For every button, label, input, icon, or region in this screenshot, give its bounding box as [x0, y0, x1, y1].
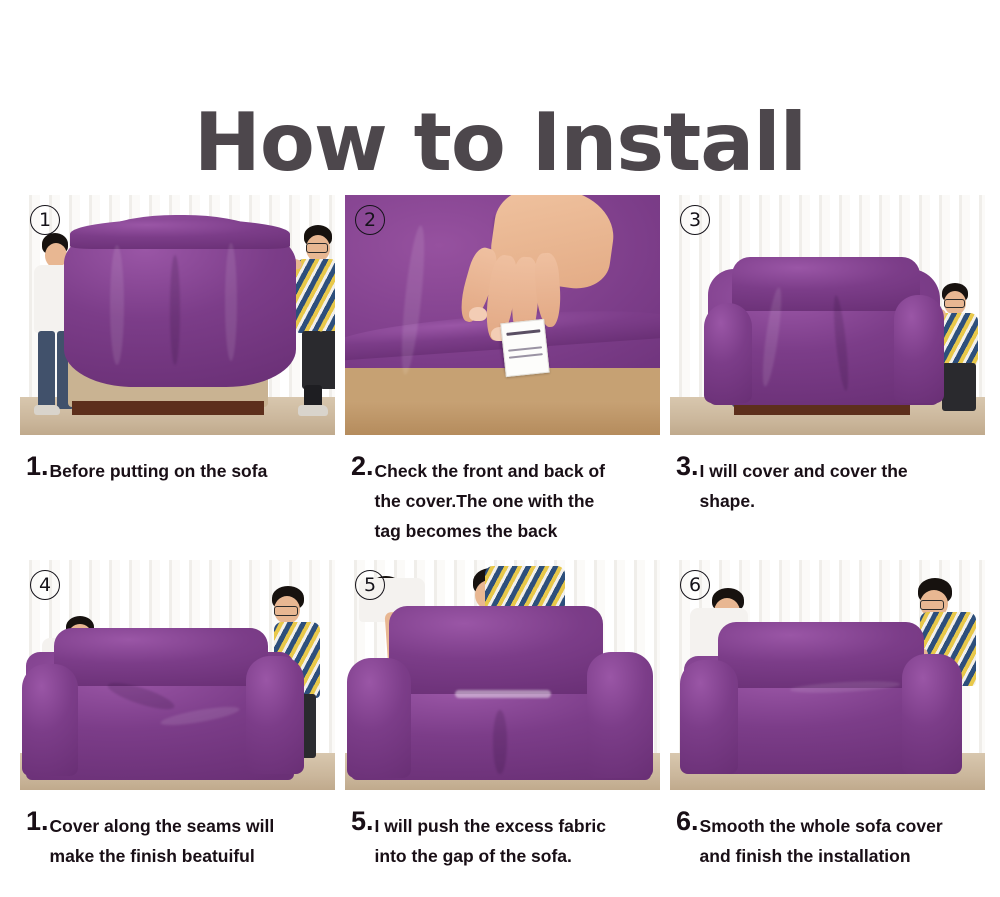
sofa-cover-back [718, 622, 924, 688]
sofa-legs [72, 401, 264, 415]
glasses-icon [920, 600, 944, 610]
steps-row-top: 1 1. Before putting on the sofa [20, 195, 985, 560]
step-caption-1: 1. Before putting on the sofa [20, 453, 335, 486]
sofa-cover-back [732, 257, 920, 311]
step-card-6: 6 6. Smooth the whole sofa cover and fin… [670, 560, 985, 871]
sofa-edge [345, 368, 660, 402]
step-photo-5: 5 [345, 560, 660, 790]
install-steps-grid: 1 1. Before putting on the sofa [20, 195, 985, 890]
fingernail [469, 307, 487, 321]
step-badge-4: 4 [30, 570, 60, 600]
caption-number: 1. [26, 808, 50, 835]
step-photo-4: 4 [20, 560, 335, 790]
sofa-cover-arm [22, 664, 78, 776]
photo-scene-3 [670, 195, 985, 435]
sofa-cover-arm [704, 303, 752, 403]
tag-text-line [509, 353, 543, 358]
caption-text: I will cover and cover the shape. [700, 453, 908, 516]
photo-scene-4 [20, 560, 335, 790]
caption-number: 5. [351, 808, 375, 835]
steps-row-bottom: 4 1. Cover along the seams will make the… [20, 560, 985, 890]
shoe [298, 405, 328, 416]
step-photo-6: 6 [670, 560, 985, 790]
torso [938, 313, 978, 365]
step-caption-6: 6. Smooth the whole sofa cover and finis… [670, 808, 985, 871]
sofa-cover-arm [902, 654, 962, 774]
photo-scene-5 [345, 560, 660, 790]
step-card-1: 1 1. Before putting on the sofa [20, 195, 335, 486]
step-caption-4: 1. Cover along the seams will make the f… [20, 808, 335, 871]
fabric-fold [493, 710, 507, 774]
fabric-fold [225, 243, 237, 361]
sofa-cover-back [54, 628, 268, 686]
sofa-gap-seam [455, 690, 551, 698]
sofa-cover-arm [680, 660, 738, 774]
glasses-icon [306, 243, 328, 253]
glasses-icon [944, 299, 965, 308]
caption-text: Before putting on the sofa [50, 453, 268, 486]
tag-text-line [506, 329, 540, 336]
leg [942, 363, 976, 411]
caption-text: Check the front and back of the cover.Th… [375, 453, 605, 546]
step-photo-2: 2 [345, 195, 660, 435]
step-badge-3: 3 [680, 205, 710, 235]
caption-number: 3. [676, 453, 700, 480]
step-badge-1: 1 [30, 205, 60, 235]
torso [296, 259, 335, 333]
leg [302, 331, 322, 389]
caption-number: 6. [676, 808, 700, 835]
caption-text: Cover along the seams will make the fini… [50, 808, 275, 871]
sofa-cover-arm [246, 656, 304, 774]
photo-scene-2 [345, 195, 660, 435]
step-card-4: 4 1. Cover along the seams will make the… [20, 560, 335, 871]
photo-scene-6 [670, 560, 985, 790]
step-photo-3: 3 [670, 195, 985, 435]
sofa-cover-arm [894, 295, 944, 403]
step-caption-5: 5. I will push the excess fabric into th… [345, 808, 660, 871]
step-caption-3: 3. I will cover and cover the shape. [670, 453, 985, 516]
leg [320, 331, 335, 389]
sofa-cover-arm [347, 658, 411, 778]
leg [38, 331, 55, 409]
step-badge-5: 5 [355, 570, 385, 600]
step-card-2: 2 2. Check the front and back of the cov… [345, 195, 660, 546]
page-title: How to Install [0, 100, 1000, 186]
sofa-cover-top [70, 219, 290, 249]
photo-scene-1 [20, 195, 335, 435]
sofa-cover-arm [587, 652, 653, 778]
caption-number: 2. [351, 453, 375, 480]
caption-number: 1. [26, 453, 50, 480]
shoe [34, 405, 60, 415]
step-caption-2: 2. Check the front and back of the cover… [345, 453, 660, 546]
step-card-3: 3 3. I will cover and cover the shape. [670, 195, 985, 516]
caption-text: Smooth the whole sofa cover and finish t… [700, 808, 943, 871]
glasses-icon [274, 606, 298, 616]
wood-floor-background [345, 397, 660, 435]
sofa-cover-back [389, 606, 603, 694]
step-card-5: 5 5. I will push the excess fabric into … [345, 560, 660, 871]
tag-text-line [508, 346, 542, 351]
caption-text: I will push the excess fabric into the g… [375, 808, 606, 871]
care-label-tag [500, 319, 549, 377]
step-badge-2: 2 [355, 205, 385, 235]
fabric-fold [110, 245, 124, 365]
step-badge-6: 6 [680, 570, 710, 600]
fabric-fold [170, 255, 180, 365]
step-photo-1: 1 [20, 195, 335, 435]
